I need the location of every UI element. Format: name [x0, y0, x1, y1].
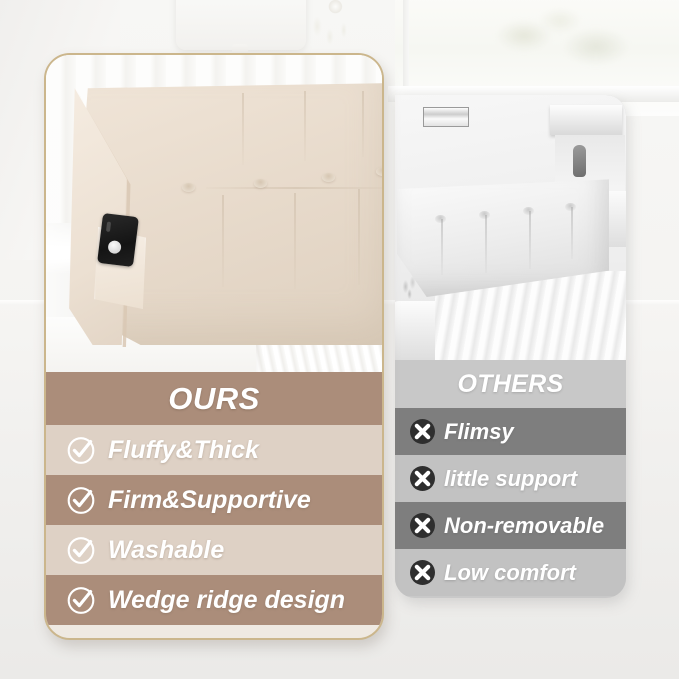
ours-product-photo — [46, 55, 382, 372]
others-header-label: OTHERS — [458, 370, 564, 399]
check-circle-icon — [66, 585, 96, 615]
others-header: OTHERS — [395, 360, 626, 408]
comparison-infographic: OTHERS Flimsy little support — [0, 0, 679, 679]
background-foliage — [470, 6, 650, 80]
ours-pillow-seam — [242, 93, 244, 165]
ours-list-item: Washable — [46, 525, 382, 575]
ours-pillow-tuft — [376, 167, 382, 176]
ours-feature-list: Fluffy&Thick Firm&Supportive Washable — [46, 425, 382, 625]
ours-pillow-tuft — [182, 183, 195, 192]
others-feature-list: Flimsy little support Non-removable — [395, 408, 626, 596]
background-lamp-shade — [176, 0, 306, 50]
others-list-item-label: Flimsy — [444, 419, 514, 445]
ours-pillow-seam — [206, 187, 382, 189]
others-list-item: Low comfort — [395, 549, 626, 596]
others-pillow-seam — [571, 207, 573, 259]
ours-pillow-tuft — [322, 173, 335, 182]
others-photo-vase — [573, 145, 586, 177]
ours-pillow-seam — [294, 193, 296, 289]
others-pillow-seam — [485, 215, 487, 273]
ours-pillow-seam — [222, 195, 224, 287]
ours-list-item-label: Fluffy&Thick — [108, 436, 259, 465]
others-list-item: little support — [395, 455, 626, 502]
ours-header: OURS — [46, 372, 382, 425]
ours-pillow-seam — [362, 91, 364, 157]
others-list-item-label: Non-removable — [444, 513, 604, 539]
others-list-item-label: Low comfort — [444, 560, 576, 586]
ours-list-item-label: Firm&Supportive — [108, 486, 311, 515]
ours-panel: OURS Fluffy&Thick Firm&Supportive — [44, 53, 384, 640]
others-list-item: Non-removable — [395, 502, 626, 549]
others-photo-picture-frame — [423, 107, 469, 127]
x-circle-icon — [409, 465, 436, 492]
ours-list-item-label: Wedge ridge design — [108, 586, 345, 615]
check-circle-icon — [66, 535, 96, 565]
ours-pillow-tuft — [254, 179, 267, 188]
ours-pillow-seam — [358, 189, 360, 285]
ours-list-item-label: Washable — [108, 536, 224, 565]
check-circle-icon — [66, 485, 96, 515]
x-circle-icon — [409, 559, 436, 586]
ours-list-item: Fluffy&Thick — [46, 425, 382, 475]
others-list-item-label: little support — [444, 466, 577, 492]
ours-list-item: Wedge ridge design — [46, 575, 382, 625]
x-circle-icon — [409, 512, 436, 539]
check-circle-icon — [66, 435, 96, 465]
others-pillow-seam — [441, 219, 443, 275]
others-product-photo — [395, 95, 626, 360]
others-list-item: Flimsy — [395, 408, 626, 455]
ours-list-item: Firm&Supportive — [46, 475, 382, 525]
ours-header-label: OURS — [168, 381, 260, 417]
ours-pillow-seam — [304, 91, 306, 161]
others-photo-shelf — [550, 105, 622, 135]
x-circle-icon — [409, 418, 436, 445]
ours-pillow-phone-in-pocket — [97, 213, 139, 267]
others-pillow-seam — [529, 211, 531, 269]
others-panel: OTHERS Flimsy little support — [395, 95, 626, 598]
